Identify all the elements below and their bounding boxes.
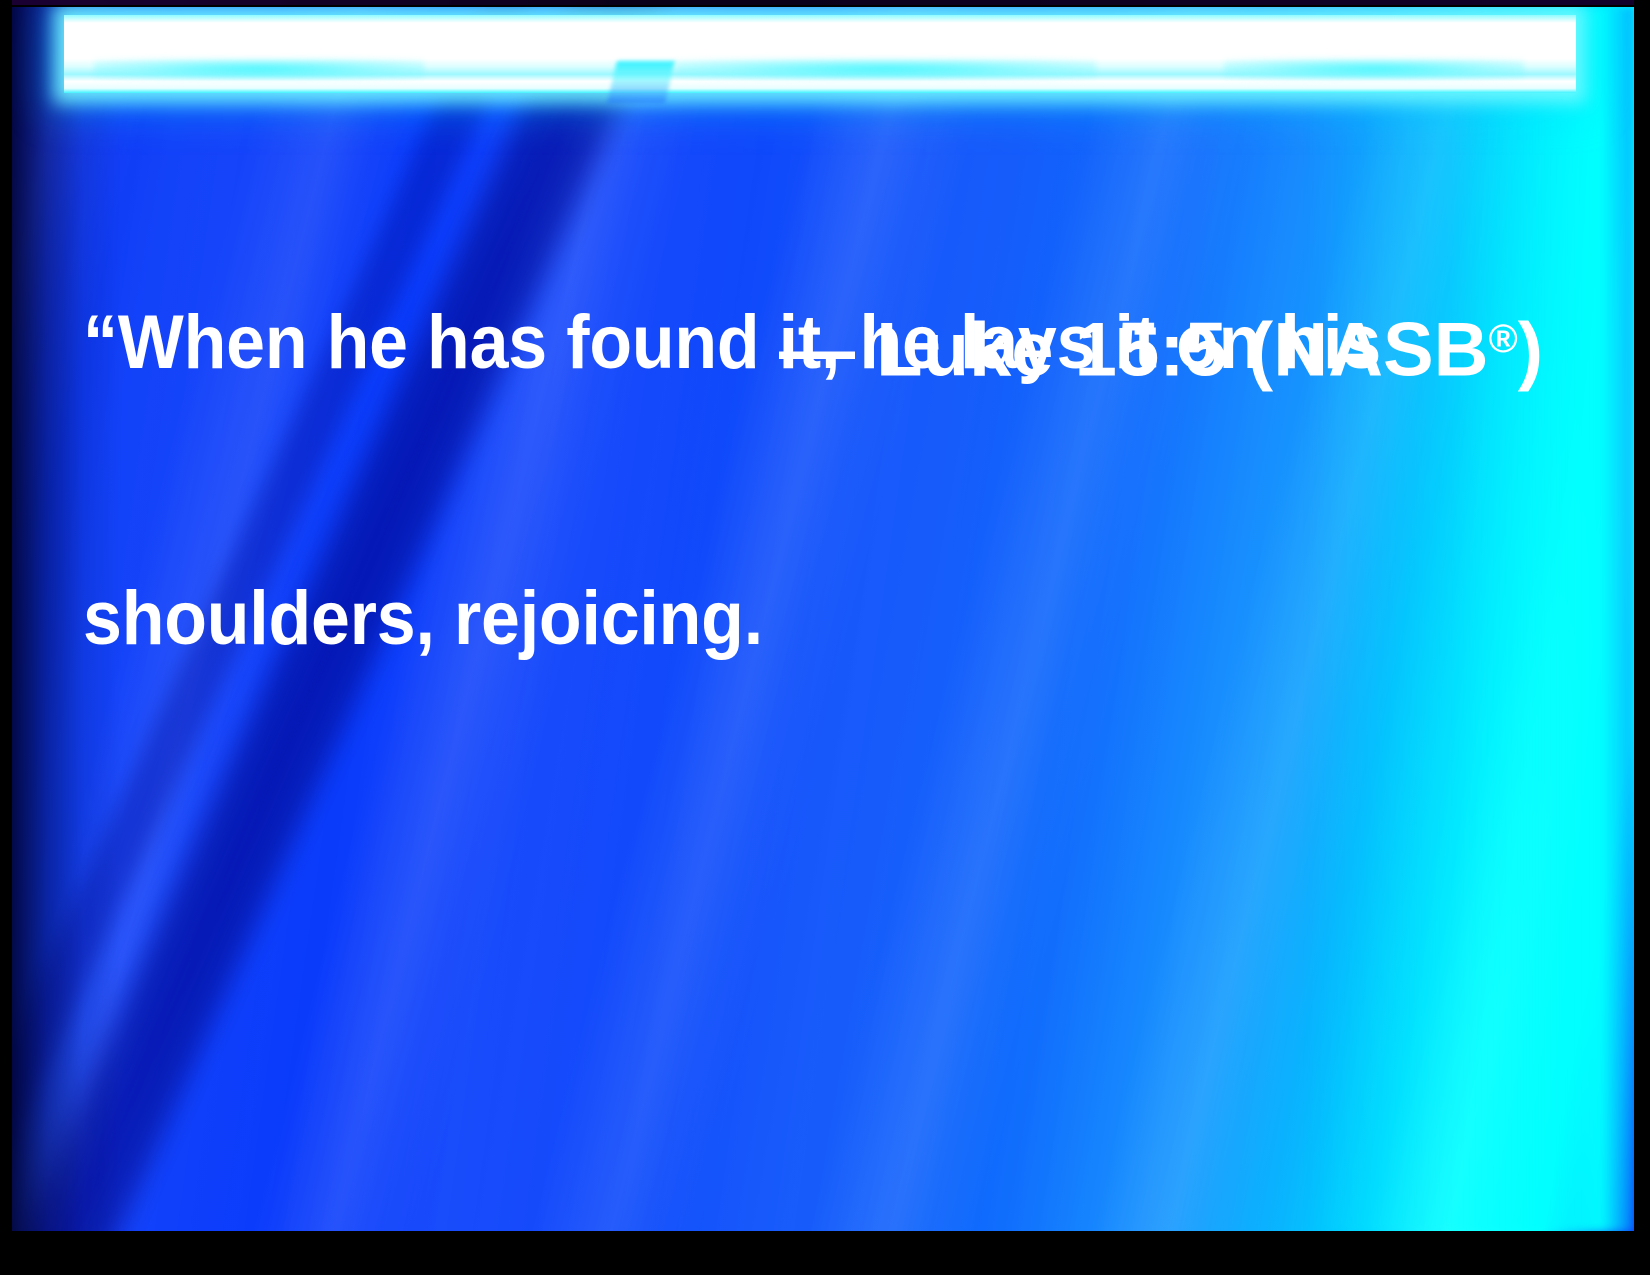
scripture-slide: “When he has found it, he lays it on his… [0, 0, 1650, 1275]
verse-line-2: shoulders, rejoicing. [83, 573, 1426, 665]
band-glow-blob [676, 59, 1096, 79]
attribution-spacer2 [1227, 308, 1248, 393]
frame-border-tint [0, 0, 1650, 5]
frame-border-right [1634, 0, 1650, 1275]
registered-trademark-icon: ® [1489, 317, 1518, 361]
band-glow-blob [94, 59, 424, 79]
verse-attribution: — Luke 15:5 (NASB®) [83, 293, 1543, 397]
translation-open: (NASB [1248, 308, 1489, 393]
verse-text: “When he has found it, he lays it on his… [83, 113, 1426, 849]
band-diagonal-notch [607, 61, 675, 103]
band-glow-blob [1224, 59, 1524, 79]
frame-border-bottom [0, 1231, 1650, 1275]
top-highlight-band [64, 15, 1576, 93]
frame-border-left [0, 0, 12, 1275]
em-dash: — [779, 308, 855, 393]
translation-close: ) [1518, 308, 1543, 393]
attribution-spacer [855, 308, 876, 393]
scripture-reference: Luke 15:5 [876, 308, 1227, 393]
